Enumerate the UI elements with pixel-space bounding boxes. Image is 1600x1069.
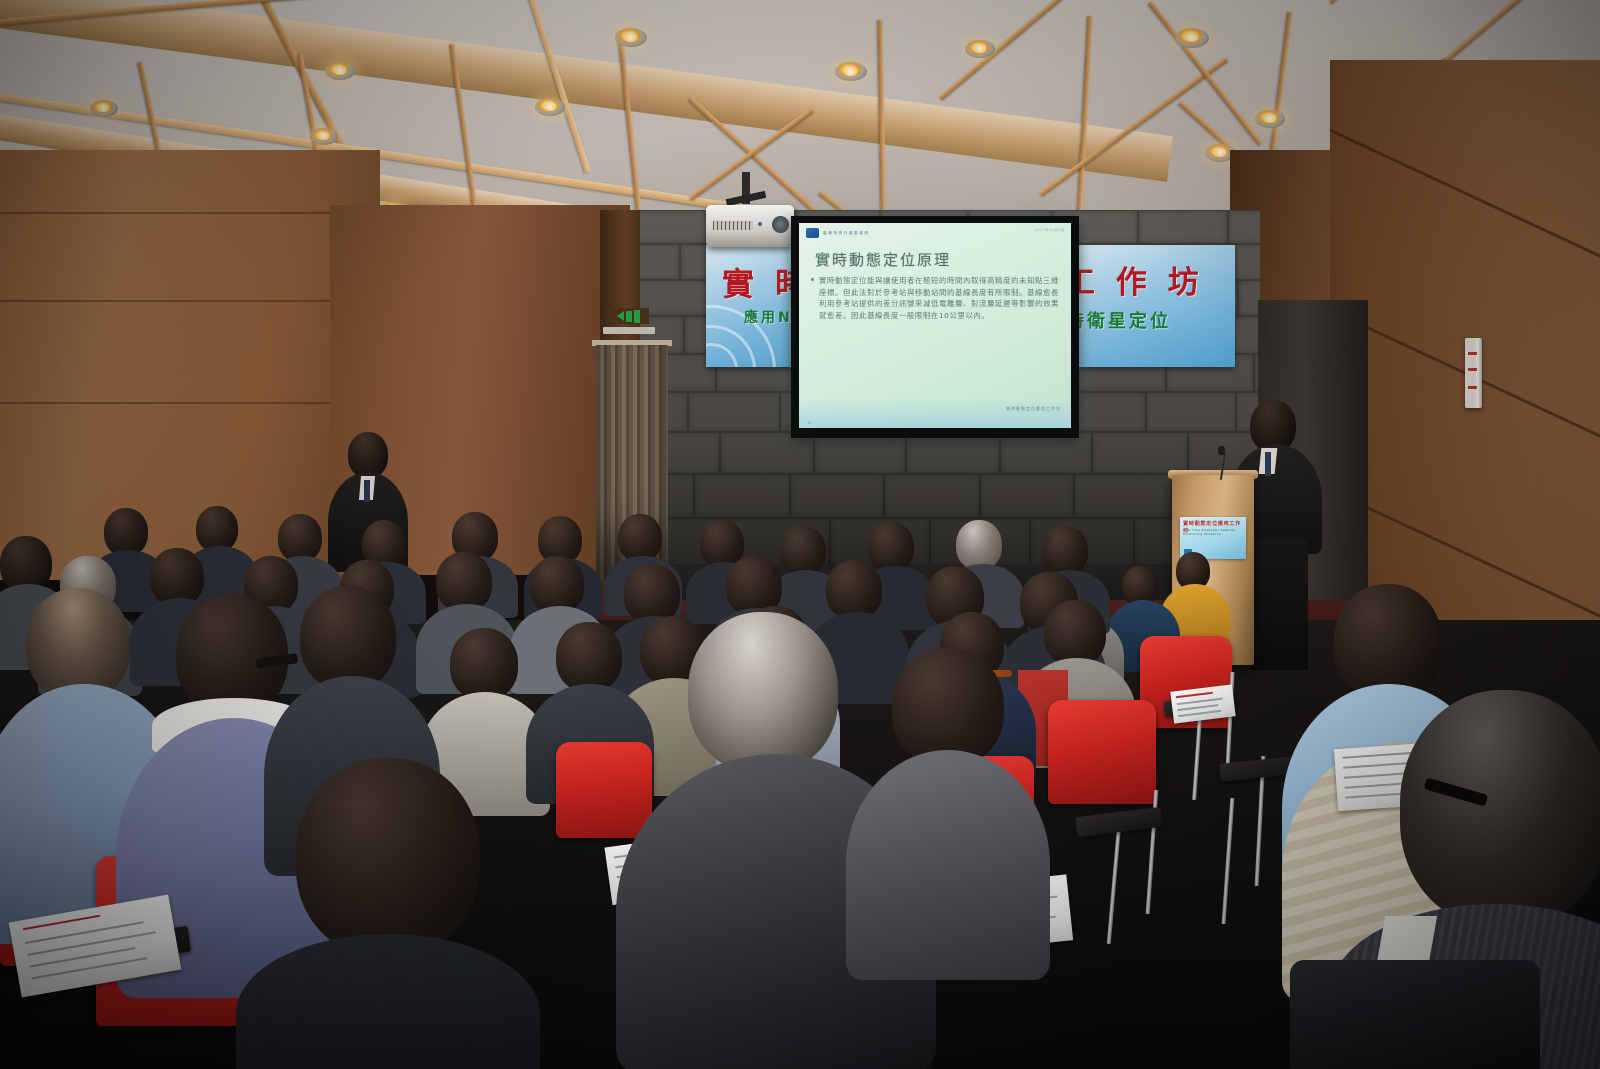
projector-led [758, 222, 762, 226]
projector-vent [713, 221, 753, 230]
recessed-ceiling-downlight [835, 62, 867, 81]
slide-logo-text: 香港特別行政區政府 [823, 231, 870, 236]
recessed-ceiling-downlight [615, 28, 647, 47]
red-auditorium-chair[interactable] [556, 742, 652, 838]
recessed-ceiling-downlight [965, 40, 995, 58]
slide-header: 香港特別行政區政府 [806, 228, 870, 238]
ceiling-beam [1328, 0, 1445, 4]
staff-tie [364, 480, 370, 502]
fire-alarm-panel [1465, 338, 1482, 408]
recessed-ceiling-downlight [1255, 110, 1285, 128]
slide-footer-text: 實時動態定位應用工作坊 [1006, 406, 1061, 412]
podium-sign-subtitle: Real-Time Kinematic Satellite Positionin… [1183, 528, 1243, 537]
recessed-ceiling-downlight [1175, 28, 1209, 48]
banner-right-title: 工 作 坊 [1064, 257, 1204, 302]
recessed-ceiling-downlight [535, 98, 565, 116]
slide-footer-band [799, 398, 1071, 428]
conference-hall-photo: 實 時 應用NT 工 作 坊 時衛星定位 香港特別行政區政府 2012年11月9… [0, 0, 1600, 1069]
event-banner-right: 工 作 坊 時衛星定位 [1060, 245, 1235, 367]
presentation-slide: 香港特別行政區政府 2012年11月9日 實時動態定位原理 實時動態定位能與讓使… [799, 223, 1071, 428]
ceiling-beam [1077, 16, 1092, 216]
exit-sign-plate [603, 327, 655, 334]
slide-date: 2012年11月9日 [1035, 227, 1065, 232]
projector-lens [772, 216, 789, 233]
organization-logo-icon [806, 228, 819, 238]
slide-title: 實時動態定位原理 [815, 249, 951, 270]
emergency-exit-sign [607, 308, 649, 324]
recessed-ceiling-downlight [310, 128, 338, 145]
slide-bullet-icon [811, 278, 814, 281]
recessed-ceiling-downlight [90, 100, 118, 117]
slide-page-number: 12 [807, 421, 812, 425]
red-auditorium-chair[interactable] [1048, 700, 1156, 804]
ceiling-projector [706, 205, 794, 247]
banner-right-subtitle: 時衛星定位 [1066, 307, 1171, 333]
projection-screen: 香港特別行政區政府 2012年11月9日 實時動態定位原理 實時動態定位能與讓使… [791, 216, 1079, 438]
presenter-tie [1265, 452, 1271, 476]
slide-body-text: 實時動態定位能與讓使用者在極短的時間內取得高精度的未知點三維座標。但此法對於參考… [819, 275, 1059, 321]
left-wood-wall [0, 150, 380, 580]
chair-back[interactable] [1290, 960, 1540, 1069]
presenter-lower-body [1250, 540, 1308, 670]
microphone-head-icon [1218, 446, 1225, 455]
recessed-ceiling-downlight [325, 62, 355, 80]
